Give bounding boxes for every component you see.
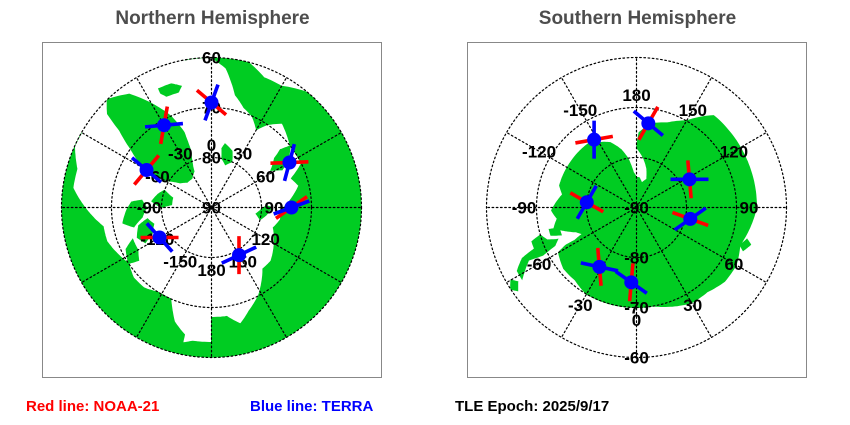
longitude-tick-label: -90 [137,199,162,218]
satellite-position-dot[interactable] [587,133,601,147]
latitude-tick-label: 90 [202,199,221,218]
satellite-position-dot[interactable] [682,172,696,186]
longitude-tick-label: 90 [740,199,759,218]
satellite-position-dot[interactable] [157,118,171,132]
polar-plot-northern: 607080900306090120150180-150-120-90-60-3… [43,43,380,376]
longitude-tick-label: -60 [527,255,552,274]
longitude-tick-label: -90 [512,199,537,218]
longitude-tick-label: 60 [256,167,275,186]
legend-tle-epoch: TLE Epoch: 2025/9/17 [455,398,609,415]
latitude-tick-label: -60 [624,349,649,368]
plot-frame-northern: 607080900306090120150180-150-120-90-60-3… [42,42,382,378]
satellite-position-dot[interactable] [232,248,246,262]
latitude-tick-label: -80 [624,249,649,268]
landmass-polygon [126,239,139,263]
satellite-position-dot[interactable] [140,163,154,177]
longitude-tick-label: 30 [683,296,702,315]
latitude-tick-label: 60 [202,49,221,68]
longitude-tick-label: 30 [233,144,252,163]
satellite-position-dot[interactable] [592,260,606,274]
legend-terra: Blue line: TERRA [250,398,373,415]
legend-noaa21: Red line: NOAA-21 [26,398,159,415]
landmass-polygon [511,280,518,291]
longitude-tick-label: 180 [622,86,650,105]
satellite-ground-track-figure: Northern Hemisphere 60708090030609012015… [0,0,850,425]
panel-title-northern: Northern Hemisphere [0,8,425,30]
landmass-polygon [549,228,561,235]
polar-plot-southern: -60-70-80-900306090120150180-150-120-90-… [468,43,805,376]
satellite-position-dot[interactable] [282,156,296,170]
satellite-position-dot[interactable] [624,275,638,289]
longitude-tick-label: -30 [568,296,593,315]
landmass-polygon [159,84,182,96]
longitude-tick-label: 180 [197,261,225,280]
satellite-position-dot[interactable] [205,96,219,110]
longitude-tick-label: -150 [563,101,597,120]
landmass-polygon [222,144,232,165]
longitude-tick-label: 60 [724,255,743,274]
panel-southern-hemisphere: Southern Hemisphere -60-70-80-9003060901… [425,0,850,425]
longitude-tick-label: 120 [251,230,279,249]
landmass-polygon [243,62,262,121]
longitude-tick-label: -120 [522,142,556,161]
plot-frame-southern: -60-70-80-900306090120150180-150-120-90-… [467,42,807,378]
satellite-position-dot[interactable] [580,195,594,209]
longitude-tick-label: 120 [720,142,748,161]
panel-northern-hemisphere: Northern Hemisphere 60708090030609012015… [0,0,425,425]
panel-title-southern: Southern Hemisphere [425,8,850,30]
satellite-position-dot[interactable] [153,231,167,245]
satellite-position-dot[interactable] [641,116,655,130]
longitude-tick-label: 0 [207,136,216,155]
satellite-position-dot[interactable] [683,212,697,226]
latitude-tick-label: -90 [624,199,649,218]
longitude-tick-label: 150 [679,101,707,120]
longitude-tick-label: 0 [632,311,641,330]
satellite-position-dot[interactable] [285,201,299,215]
longitude-tick-label: -150 [163,253,197,272]
longitude-tick-label: -30 [168,144,193,163]
